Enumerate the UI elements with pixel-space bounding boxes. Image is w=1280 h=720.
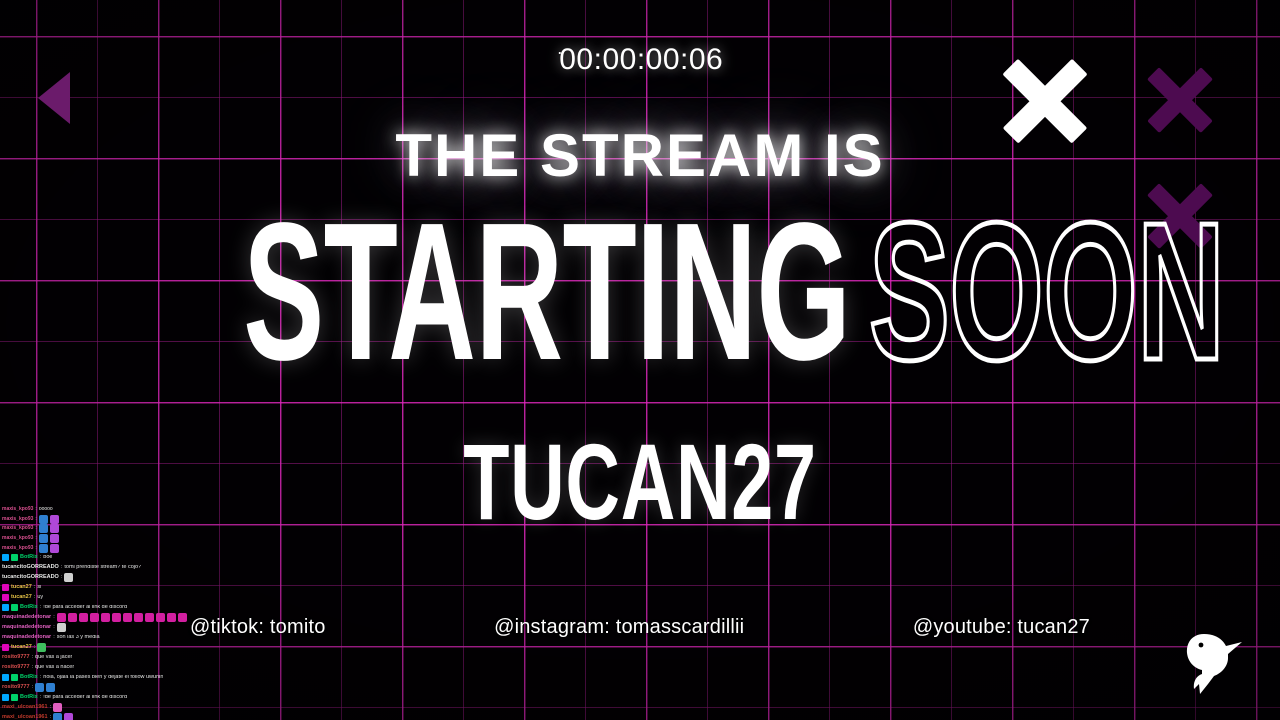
chat-username: maxis_kpo93 [2, 536, 33, 541]
headline-word-starting: STARTING [243, 182, 850, 401]
chat-emote-group [53, 713, 74, 720]
chat-emote-icon [39, 515, 48, 524]
chat-badge-verif-icon [11, 554, 18, 561]
chat-emote-group [57, 613, 188, 622]
chat-message-row: tucan27 : [0, 643, 190, 653]
chat-username: maxis_kpo93 [2, 517, 33, 522]
headline-word-soon: SOON [869, 182, 1224, 401]
chat-badge-verif-icon [11, 694, 18, 701]
chat-message-row: rosito9777 : qué vas a hacer [0, 663, 190, 673]
chat-emote-icon [39, 544, 48, 553]
chat-emote-icon [167, 613, 176, 622]
chat-badge-verif-icon [11, 604, 18, 611]
chat-emote-group [39, 515, 60, 524]
chat-username: rosito9777 [2, 685, 30, 691]
stream-starting-soon-screen: ·00:00:00:06 THE STREAM IS STARTINGSOON … [0, 0, 1280, 720]
toucan-logo [1174, 620, 1246, 706]
chat-message-row: rosito9777 : [0, 683, 190, 693]
chat-message-row: maquinadedetonar : son las 3 y media [0, 633, 190, 643]
chat-message-row: BotRix : !de para acceder al link de dis… [0, 693, 190, 703]
chat-emote-icon [145, 613, 154, 622]
chat-overlay[interactable]: maxis_kpo93 : ooooomaxis_kpo93 : maxis_k… [0, 505, 190, 720]
chat-message-text: si [37, 585, 41, 591]
chat-message-text: tomi prendiste stream? te cojo? [64, 565, 141, 571]
chat-message-text: ooooo [39, 507, 53, 512]
chat-emote-group [35, 683, 56, 692]
chat-badge-vip-icon [2, 594, 9, 601]
chat-message-row: tucancitoGORREADO : tomi prendiste strea… [0, 563, 190, 573]
chat-emote-icon [53, 713, 62, 720]
chat-message-text: uy [37, 595, 43, 601]
chat-message-text: qué vas a hacer [35, 665, 74, 671]
chat-message-row: tucancitoGORREADO : [0, 573, 190, 583]
chat-message-row: tucan27 : si [0, 583, 190, 593]
chat-message-text: boe [43, 555, 52, 561]
chat-username: tucancitoGORREADO [2, 565, 59, 571]
chat-emote-icon [134, 613, 143, 622]
chat-emote-icon [178, 613, 187, 622]
chat-username: BotRix [20, 675, 38, 681]
chat-emote-icon [35, 683, 44, 692]
chat-emote-group [64, 573, 74, 582]
chat-username: tucan27 [11, 645, 32, 651]
chat-emote-icon [37, 643, 46, 652]
chat-emote-icon [53, 703, 62, 712]
chat-message-row: maxi_ulcoan1961 : [0, 713, 190, 720]
chat-separator: : [34, 645, 36, 651]
chat-badge-vip-icon [2, 584, 9, 591]
chat-message-row: maxi_ulcoan1961 : [0, 703, 190, 713]
chat-message-row: maquinadedetonar : [0, 613, 190, 623]
chat-emote-icon [46, 683, 55, 692]
chat-username: maquinadedetonar [2, 625, 51, 631]
chat-username: tucan27 [11, 585, 32, 591]
chat-message-row: maxis_kpo93 : [0, 515, 190, 525]
tiktok-handle: @tiktok: tomito [190, 616, 326, 639]
chat-separator: : [35, 517, 36, 522]
chat-emote-icon [64, 573, 73, 582]
chat-emote-group [53, 703, 63, 712]
chat-username: maxi_ulcoan1961 [2, 715, 48, 720]
chat-username: maxis_kpo93 [2, 507, 33, 512]
chat-username: BotRix [20, 555, 38, 561]
chat-message-row: maxis_kpo93 : [0, 534, 190, 544]
instagram-handle: @instagram: tomasscardillii [494, 616, 744, 639]
stream-countdown-timer: ·00:00:00:06 [0, 42, 1280, 77]
chat-emote-group [37, 643, 47, 652]
chat-emote-icon [39, 534, 48, 543]
chat-separator: : [32, 665, 34, 671]
chat-username: BotRix [20, 695, 38, 701]
chat-separator: : [32, 655, 34, 661]
chat-separator: : [61, 575, 63, 581]
chat-separator: : [61, 565, 63, 571]
chat-message-row: BotRix : !de para acceder al link de dis… [0, 603, 190, 613]
chat-separator: : [50, 705, 52, 711]
chat-emote-group [39, 544, 60, 553]
chat-badge-mod-icon [2, 694, 9, 701]
chat-emote-icon [50, 544, 59, 553]
chat-username: maxis_kpo93 [2, 546, 33, 551]
chat-message-row: BotRix : hola, ojala la pases bien y dej… [0, 673, 190, 683]
chat-emote-icon [90, 613, 99, 622]
headline-line-small: THE STREAM IS [0, 126, 1280, 186]
chat-username: rosito9777 [2, 665, 30, 671]
chat-username: rosito9777 [2, 655, 30, 661]
chat-emote-group [39, 534, 60, 543]
chat-separator: : [53, 635, 55, 641]
chat-separator: : [32, 685, 34, 691]
chat-username: tucan27 [11, 595, 32, 601]
chat-message-row: rosito9777 : qué vas a jacer [0, 653, 190, 663]
chat-emote-group [57, 623, 67, 632]
chat-separator: : [35, 536, 36, 541]
chat-emote-icon [39, 524, 48, 533]
chat-message-text: qué vas a jacer [35, 655, 72, 661]
chat-emote-icon [112, 613, 121, 622]
chat-emote-icon [101, 613, 110, 622]
chat-separator: : [40, 675, 42, 681]
chat-emote-icon [64, 713, 73, 720]
chat-message-text: !de para acceder al link de discord [43, 605, 127, 611]
chat-separator: : [35, 507, 36, 512]
chat-message-text: son las 3 y media [57, 635, 100, 641]
chat-separator: : [40, 695, 42, 701]
chat-separator: : [35, 546, 36, 551]
chat-username: maquinadedetonar [2, 635, 51, 641]
chat-badge-vip-icon [2, 644, 9, 651]
chat-username: BotRix [20, 605, 38, 611]
chat-emote-icon [156, 613, 165, 622]
chat-message-row: BotRix : boe [0, 553, 190, 563]
chat-badge-mod-icon [2, 604, 9, 611]
chat-username: maxis_kpo93 [2, 526, 33, 531]
youtube-handle: @youtube: tucan27 [913, 616, 1090, 639]
headline-line-big: STARTINGSOON [243, 194, 1037, 390]
chat-message-row: maxis_kpo93 : ooooo [0, 505, 190, 515]
timer-value: 00:00:00:06 [559, 43, 723, 76]
streamer-username: TUCAN27 [192, 428, 1088, 536]
chat-emote-icon [50, 515, 59, 524]
chat-emote-group [39, 524, 60, 533]
chat-emote-icon [50, 524, 59, 533]
chat-message-row: maxis_kpo93 : [0, 543, 190, 553]
timer-tick-mark: · [557, 42, 564, 62]
chat-badge-mod-icon [2, 674, 9, 681]
chat-separator: : [53, 625, 55, 631]
chat-badge-verif-icon [11, 674, 18, 681]
chat-emote-icon [123, 613, 132, 622]
chat-badge-mod-icon [2, 554, 9, 561]
chat-emote-icon [57, 623, 66, 632]
chat-message-row: maxis_kpo93 : [0, 524, 190, 534]
left-triangle-icon [38, 72, 70, 124]
chat-message-row: tucan27 : uy [0, 593, 190, 603]
chat-username: tucancitoGORREADO [2, 575, 59, 581]
chat-emote-icon [79, 613, 88, 622]
chat-separator: : [34, 585, 36, 591]
chat-separator: : [50, 715, 52, 720]
chat-username: maquinadedetonar [2, 615, 51, 621]
chat-message-text: !de para acceder al link de discord [43, 695, 127, 701]
chat-separator: : [34, 595, 36, 601]
chat-separator: : [35, 526, 36, 531]
headline-block: THE STREAM IS STARTINGSOON [0, 126, 1280, 390]
chat-separator: : [53, 615, 55, 621]
social-handles: @tiktok: tomito @instagram: tomasscardil… [190, 616, 1090, 639]
chat-message-row: maquinadedetonar : [0, 623, 190, 633]
chat-separator: : [40, 605, 42, 611]
chat-emote-icon [50, 534, 59, 543]
chat-username: maxi_ulcoan1961 [2, 705, 48, 711]
chat-message-text: hola, ojala la pases bien y dejate el fo… [43, 675, 163, 681]
chat-separator: : [40, 555, 42, 561]
chat-emote-icon [68, 613, 77, 622]
chat-emote-icon [57, 613, 66, 622]
